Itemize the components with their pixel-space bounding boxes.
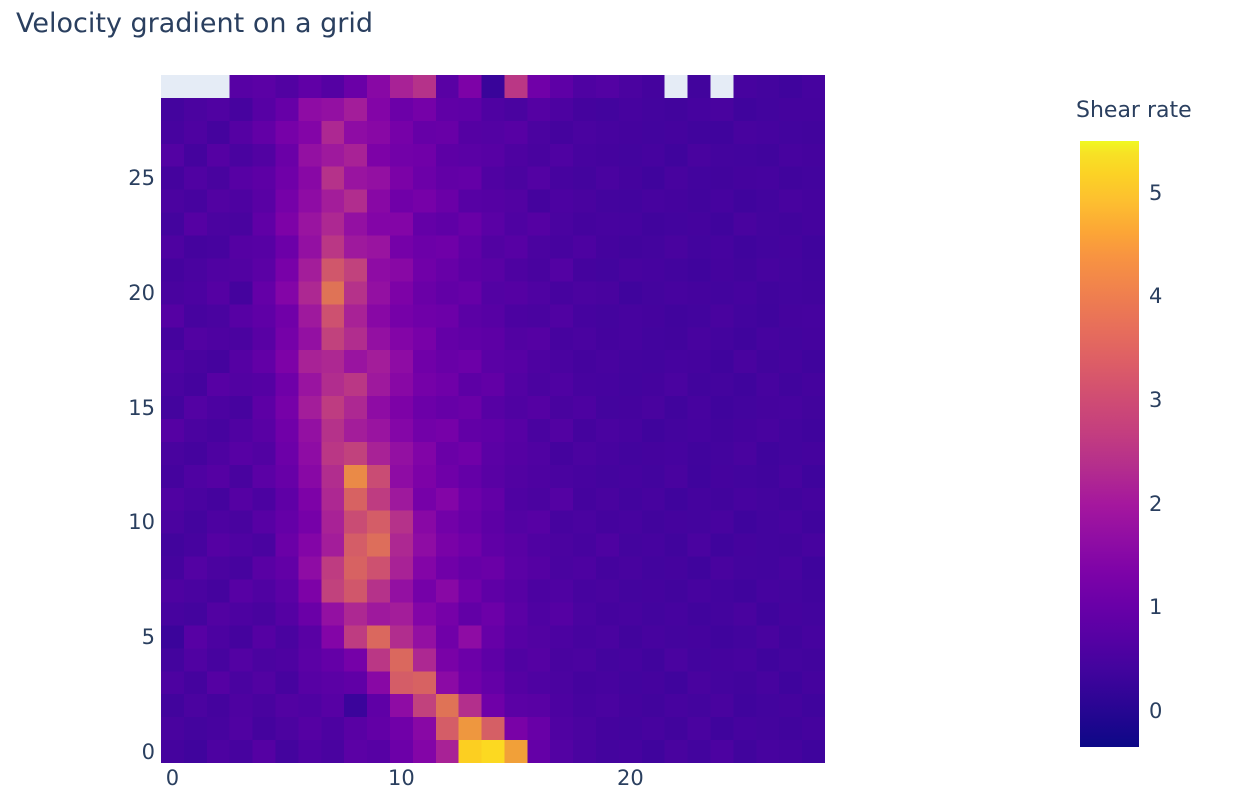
colorbar-gradient (1080, 141, 1139, 747)
colorbar-title: Shear rate (1076, 98, 1192, 123)
colorbar-tick-3: 3 (1149, 388, 1162, 412)
y-axis-tick-20: 20 (128, 281, 155, 305)
y-axis-tick-0: 0 (142, 740, 155, 764)
y-axis-tick-15: 15 (128, 396, 155, 420)
heatmap-plot-area[interactable] (161, 75, 825, 763)
y-axis-tick-10: 10 (128, 510, 155, 534)
colorbar-tick-5: 5 (1149, 181, 1162, 205)
colorbar-tick-1: 1 (1149, 595, 1162, 619)
x-axis-tick-20: 20 (617, 766, 644, 790)
page-title: Velocity gradient on a grid (16, 8, 373, 39)
colorbar-tick-0: 0 (1149, 699, 1162, 723)
heatmap-canvas[interactable] (161, 75, 825, 763)
y-axis-tick-5: 5 (142, 625, 155, 649)
colorbar-tick-4: 4 (1149, 284, 1162, 308)
y-axis-tick-25: 25 (128, 166, 155, 190)
x-axis-tick-0: 0 (166, 766, 179, 790)
colorbar[interactable]: 012345 (1080, 141, 1139, 747)
x-axis-tick-10: 10 (388, 766, 415, 790)
colorbar-tick-2: 2 (1149, 492, 1162, 516)
